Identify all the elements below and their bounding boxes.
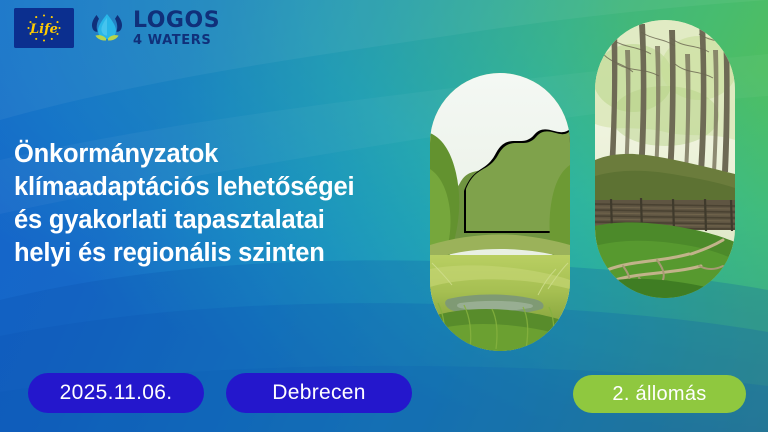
- svg-text:Life: Life: [29, 22, 58, 37]
- eu-life-logo: Life: [14, 8, 74, 48]
- city-pill[interactable]: Debrecen: [226, 373, 412, 413]
- event-banner: Life LOGOS 4 WATERS Önkormányzatok: [0, 0, 768, 432]
- logos-4-waters-logo: LOGOS 4 WATERS: [88, 9, 220, 47]
- station-pill[interactable]: 2. állomás: [573, 375, 746, 413]
- logos-wordmark-line2: 4 WATERS: [133, 34, 220, 47]
- title-line-4: helyi és regionális szinten: [14, 237, 434, 270]
- date-pill[interactable]: 2025.11.06.: [28, 373, 204, 413]
- title-line-1: Önkormányzatok: [14, 138, 434, 171]
- woodland-photo: [595, 20, 735, 298]
- banner-title: Önkormányzatok klímaadaptációs lehetőség…: [14, 138, 434, 270]
- logo-row: Life LOGOS 4 WATERS: [14, 8, 220, 48]
- logos-wordmark-line1: LOGOS: [133, 10, 220, 32]
- title-line-2: klímaadaptációs lehetőségei: [14, 171, 434, 204]
- water-droplet-icon: [88, 9, 126, 47]
- title-line-3: és gyakorlati tapasztalatai: [14, 204, 434, 237]
- wetland-photo: [430, 73, 570, 351]
